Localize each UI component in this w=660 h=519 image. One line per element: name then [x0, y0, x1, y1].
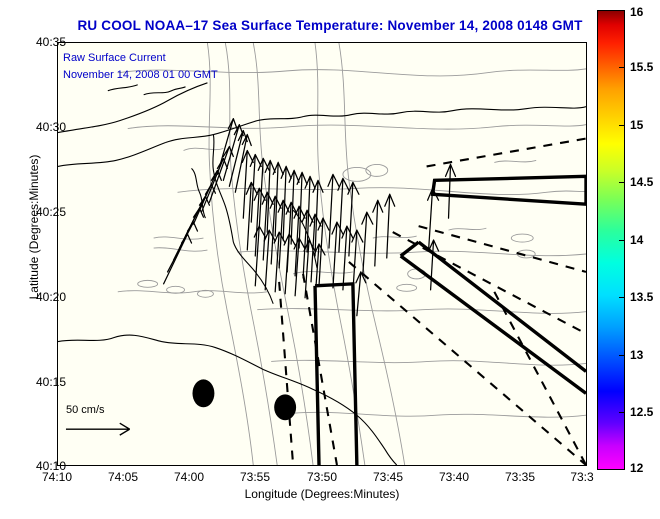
xtick-2: 74:00	[174, 470, 204, 484]
raw-surface-current-label: Raw Surface Current	[63, 52, 166, 64]
map-plot-area[interactable]: Raw Surface Current November 14, 2008 01…	[57, 42, 587, 466]
cbtick-2: 15	[630, 118, 643, 132]
map-graphics	[58, 43, 586, 465]
cbtick-7: 12.5	[630, 405, 653, 419]
cbtick-0: 16	[630, 5, 643, 19]
coastline	[58, 83, 586, 465]
figure-title: RU COOL NOAA–17 Sea Surface Temperature:…	[0, 18, 660, 33]
ytick-5: 40:10	[36, 459, 66, 473]
current-timestamp-label: November 14, 2008 01 00 GMT	[63, 69, 218, 81]
xtick-6: 73:40	[439, 470, 469, 484]
xtick-5: 73:45	[373, 470, 403, 484]
x-axis-label: Longitude (Degrees:Minutes)	[57, 487, 587, 501]
cbtick-8: 12	[630, 461, 643, 475]
ytick-4: 40:15	[36, 375, 66, 389]
shipping-lane-corridors	[315, 176, 586, 465]
cbtick-3: 14.5	[630, 175, 653, 189]
xtick-8: 73:3	[570, 470, 593, 484]
ytick-0: 40:35	[36, 35, 66, 49]
cbtick-1: 15.5	[630, 60, 653, 74]
cbtick-5: 13.5	[630, 290, 653, 304]
station-marker-2	[274, 394, 296, 420]
xtick-4: 73:50	[307, 470, 337, 484]
xtick-7: 73:35	[505, 470, 535, 484]
vector-scale-label: 50 cm/s	[66, 404, 105, 416]
vector-scale-arrow	[66, 423, 130, 435]
surface-current-vectors	[164, 119, 456, 316]
figure-canvas: RU COOL NOAA–17 Sea Surface Temperature:…	[0, 0, 660, 519]
xtick-3: 73:55	[240, 470, 270, 484]
station-marker-1	[192, 379, 214, 407]
xtick-1: 74:05	[108, 470, 138, 484]
y-axis-label: Latitude (Degrees:Minutes)	[27, 107, 41, 347]
sst-contour-lines	[118, 43, 586, 465]
cbtick-4: 14	[630, 233, 643, 247]
cbtick-6: 13	[630, 348, 643, 362]
